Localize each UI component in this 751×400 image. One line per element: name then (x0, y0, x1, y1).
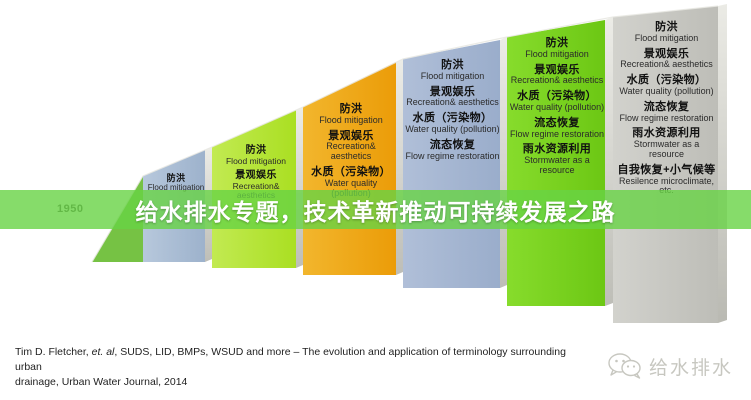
screenshot-root: 1950 防洪 Flood mitigation 防洪 Flood mitiga… (0, 0, 751, 400)
caption-source: drainage, Urban Water Journal, 2014 (15, 376, 187, 388)
wechat-logo-icon (608, 352, 642, 380)
watermark-label: 给水排水 (649, 353, 733, 380)
caption-etal: et. al (92, 346, 115, 358)
funnel-shapes (0, 0, 751, 340)
page-title: 给水排水专题，技术革新推动可持续发展之路 (0, 190, 751, 229)
watermark: 给水排水 (608, 352, 733, 380)
caption-author: Tim D. Fletcher, (15, 346, 92, 358)
figure-caption: Tim D. Fletcher, et. al, SUDS, LID, BMPs… (15, 345, 595, 391)
funnel-chart: 1950 防洪 Flood mitigation 防洪 Flood mitiga… (0, 0, 751, 340)
